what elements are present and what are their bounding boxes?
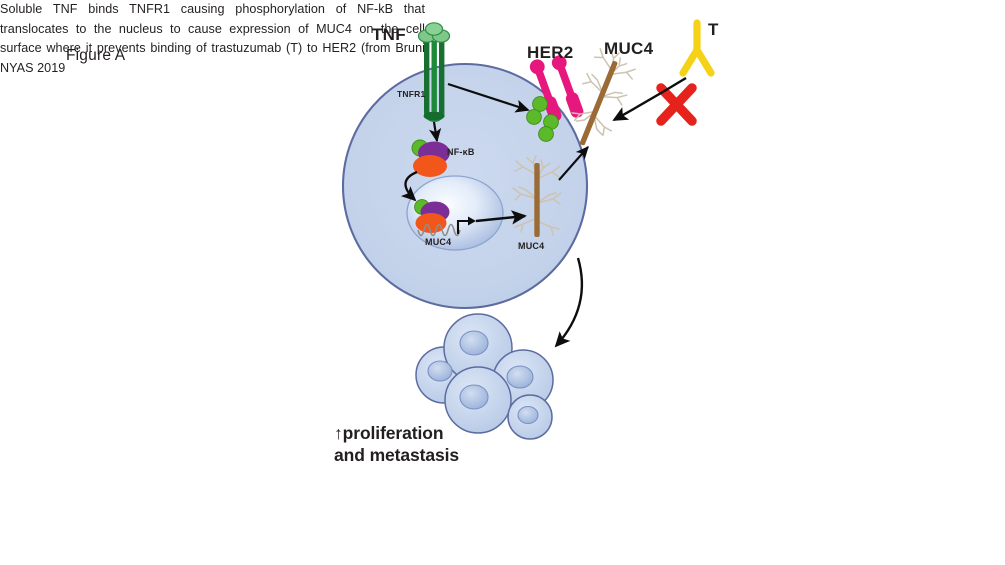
label-her2: HER2	[527, 43, 574, 63]
tnfr1-receptor	[424, 41, 445, 122]
tnf-ligand-trimer	[419, 23, 450, 42]
figure-a-diagram-page: Figure A TNF HER2 MUC4 T TNFR1 NF-κB MUC…	[0, 0, 1005, 565]
outcome-text: ↑proliferation and metastasis	[334, 422, 459, 466]
label-muc4-surface: MUC4	[604, 39, 653, 59]
outcome-line-1: ↑proliferation	[334, 423, 443, 443]
figure-label: Figure A	[66, 47, 125, 65]
nfkb-complex-cytoplasm	[412, 140, 450, 177]
label-muc4-cytoplasmic: MUC4	[518, 241, 544, 251]
label-muc4-gene: MUC4	[425, 237, 451, 247]
label-tnf: TNF	[372, 25, 406, 45]
binding-blocked-x-icon	[661, 88, 692, 121]
outcome-line-2: and metastasis	[334, 445, 459, 465]
proliferating-cell-cluster	[416, 314, 553, 439]
pathway-diagram-illustration	[0, 0, 1005, 565]
label-trastuzumab: T	[708, 20, 718, 40]
label-tnfr1: TNFR1	[397, 89, 425, 99]
label-nfkb: NF-κB	[447, 147, 475, 157]
trastuzumab-antibody	[683, 23, 711, 73]
